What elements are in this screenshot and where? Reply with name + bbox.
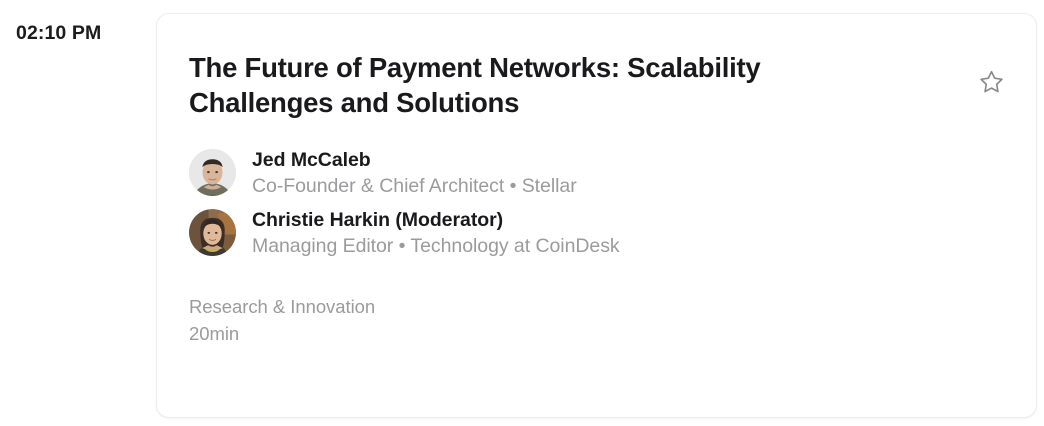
- speaker-row[interactable]: Christie Harkin (Moderator) Managing Edi…: [189, 207, 1006, 259]
- session-card[interactable]: The Future of Payment Networks: Scalabil…: [156, 13, 1037, 418]
- speaker-role: Managing Editor • Technology at CoinDesk: [252, 233, 620, 259]
- session-duration: 20min: [189, 320, 1006, 347]
- speaker-list: Jed McCaleb Co-Founder & Chief Architect…: [189, 147, 1006, 259]
- speaker-name: Jed McCaleb: [252, 148, 577, 173]
- session-track: Research & Innovation: [189, 293, 1006, 320]
- session-card-content: The Future of Payment Networks: Scalabil…: [189, 50, 1006, 347]
- avatar: [189, 209, 236, 256]
- speaker-info: Christie Harkin (Moderator) Managing Edi…: [252, 207, 620, 259]
- speaker-row[interactable]: Jed McCaleb Co-Founder & Chief Architect…: [189, 147, 1006, 199]
- session-title: The Future of Payment Networks: Scalabil…: [189, 50, 829, 120]
- agenda-session-row: 02:10 PM The Future of Payment Networks:…: [0, 0, 1044, 426]
- speaker-name: Christie Harkin (Moderator): [252, 208, 620, 233]
- speaker-role: Co-Founder & Chief Architect • Stellar: [252, 173, 577, 199]
- avatar: [189, 149, 236, 196]
- star-outline-icon: [979, 69, 1004, 94]
- session-meta: Research & Innovation 20min: [189, 293, 1006, 347]
- session-time-label: 02:10 PM: [16, 20, 140, 46]
- favorite-star-button[interactable]: [976, 66, 1006, 96]
- speaker-info: Jed McCaleb Co-Founder & Chief Architect…: [252, 147, 577, 199]
